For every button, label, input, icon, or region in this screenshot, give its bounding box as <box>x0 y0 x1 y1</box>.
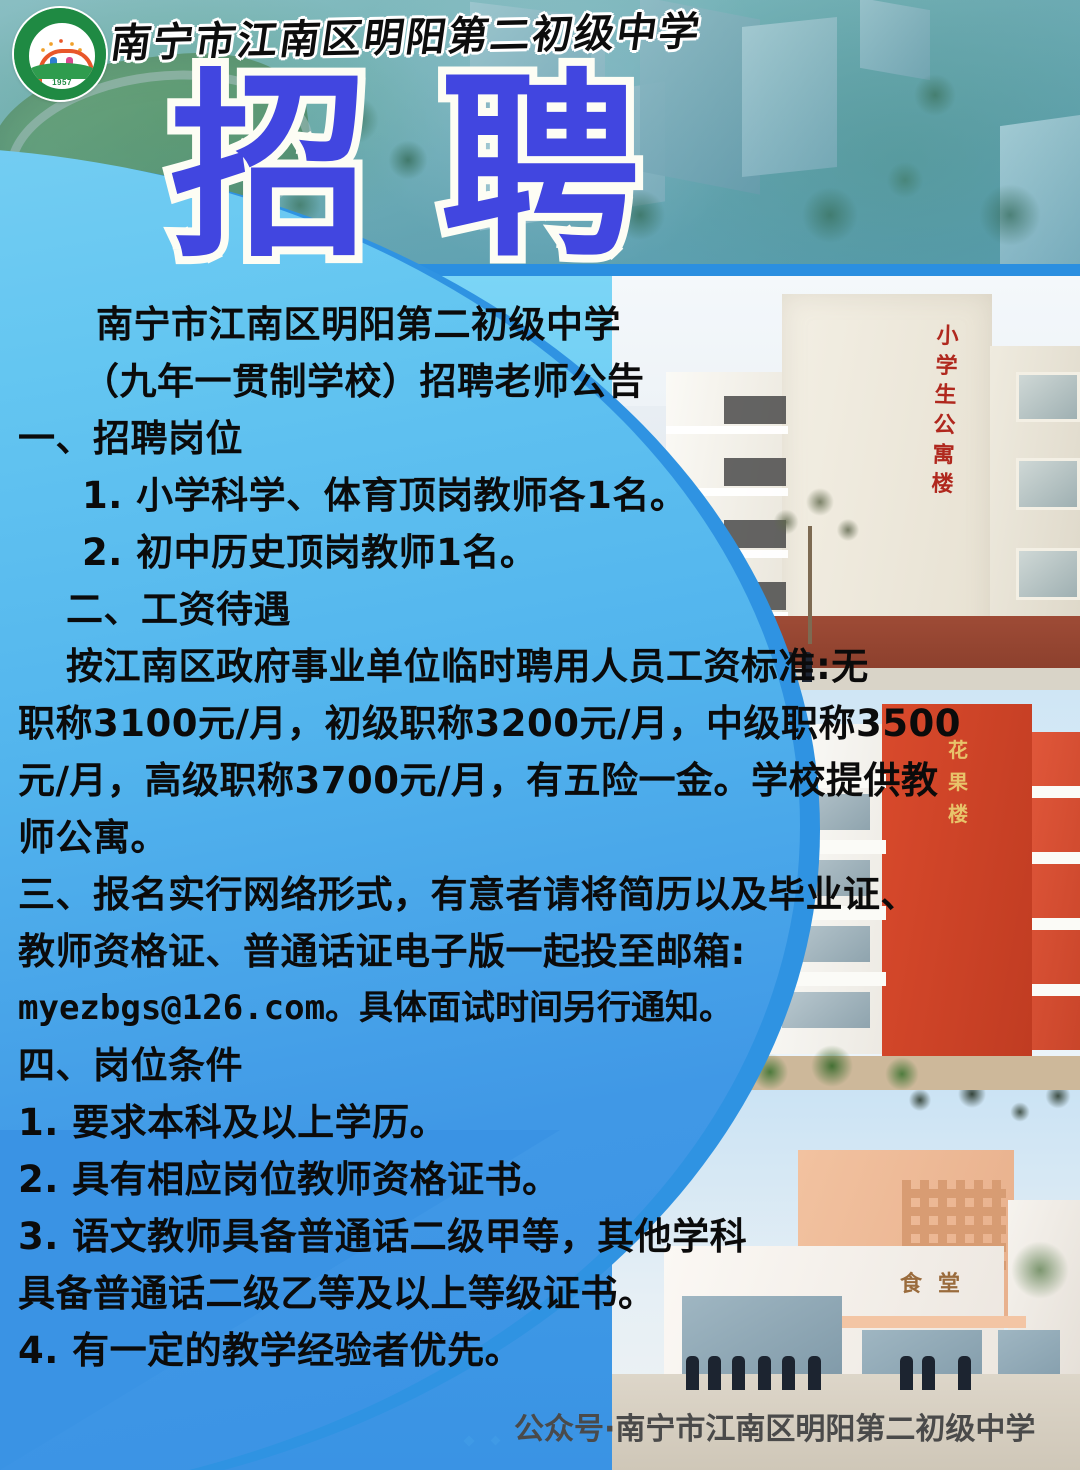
photo-caption-cafeteria: 食堂 <box>900 1266 976 1298</box>
announcement-body: 南宁市江南区明阳第二初级中学（九年一贯制学校）招聘老师公告一、招聘岗位1. 小学… <box>0 296 800 1379</box>
tree-right <box>970 1210 1080 1340</box>
announcement-line: 具备普通话二级乙等及以上等级证书。 <box>0 1265 800 1322</box>
wechat-icon <box>462 1411 502 1441</box>
announcement-line: 南宁市江南区明阳第二初级中学 <box>0 296 800 353</box>
announcement-line: myezbgs@126.com。具体面试时间另行通知。 <box>0 980 800 1037</box>
photo-caption-dormitory: 小学生公寓楼 <box>925 321 965 500</box>
building-red-wing <box>1032 732 1080 1050</box>
facade-band <box>1032 852 1080 864</box>
emblem-inner: 1957 <box>27 21 97 91</box>
announcement-line: （九年一贯制学校）招聘老师公告 <box>0 353 800 410</box>
announcement-line: 二、工资待遇 <box>0 581 800 638</box>
page-title: 招聘 <box>170 74 710 264</box>
person-figure <box>900 1356 913 1390</box>
announcement-line: 元/月，高级职称3700元/月，有五险一金。学校提供教 <box>0 752 800 809</box>
announcement-line: 按江南区政府事业单位临时聘用人员工资标准:无 <box>0 638 800 695</box>
photo-caption-building: 花果楼 <box>944 734 972 830</box>
announcement-line: 师公寓。 <box>0 809 800 866</box>
facade-band <box>1032 918 1080 930</box>
tree-branch-overlay <box>890 1090 1080 1200</box>
person-figure <box>958 1356 971 1390</box>
announcement-line: 1. 小学科学、体育顶岗教师各1名。 <box>0 467 800 524</box>
person-figure <box>808 1356 821 1390</box>
footer-text: 公众号·南宁市江南区明阳第二初级中学 <box>514 1404 1035 1448</box>
announcement-line: 职称3100元/月，初级职称3200元/月，中级职称3500 <box>0 695 800 752</box>
facade-band <box>1032 984 1080 996</box>
announcement-line: 一、招聘岗位 <box>0 410 800 467</box>
emblem-year: 1957 <box>29 78 95 87</box>
recruitment-poster: 1957 南宁市江南区明阳第二初级中学 招聘 <box>0 0 1080 1470</box>
facade-band <box>1032 786 1080 798</box>
announcement-line: 2. 初中历史顶岗教师1名。 <box>0 524 800 581</box>
announcement-line: 四、岗位条件 <box>0 1037 800 1094</box>
announcement-line: 3. 语文教师具备普通话二级甲等，其他学科 <box>0 1208 800 1265</box>
announcement-line: 2. 具有相应岗位教师资格证书。 <box>0 1151 800 1208</box>
announcement-line: 1. 要求本科及以上学历。 <box>0 1094 800 1151</box>
window <box>1016 372 1080 422</box>
announcement-line: 教师资格证、普通话证电子版一起投至邮箱: <box>0 923 800 980</box>
person-figure <box>922 1356 935 1390</box>
footer-wechat: 公众号·南宁市江南区明阳第二初级中学 <box>462 1404 1035 1448</box>
announcement-line: 4. 有一定的教学经验者优先。 <box>0 1322 800 1379</box>
hill-shape-icon <box>29 63 95 79</box>
window <box>1016 548 1080 600</box>
announcement-line: 三、报名实行网络形式，有意者请将简历以及毕业证、 <box>0 866 800 923</box>
school-emblem-icon: 1957 <box>14 8 106 100</box>
window <box>1016 458 1080 510</box>
